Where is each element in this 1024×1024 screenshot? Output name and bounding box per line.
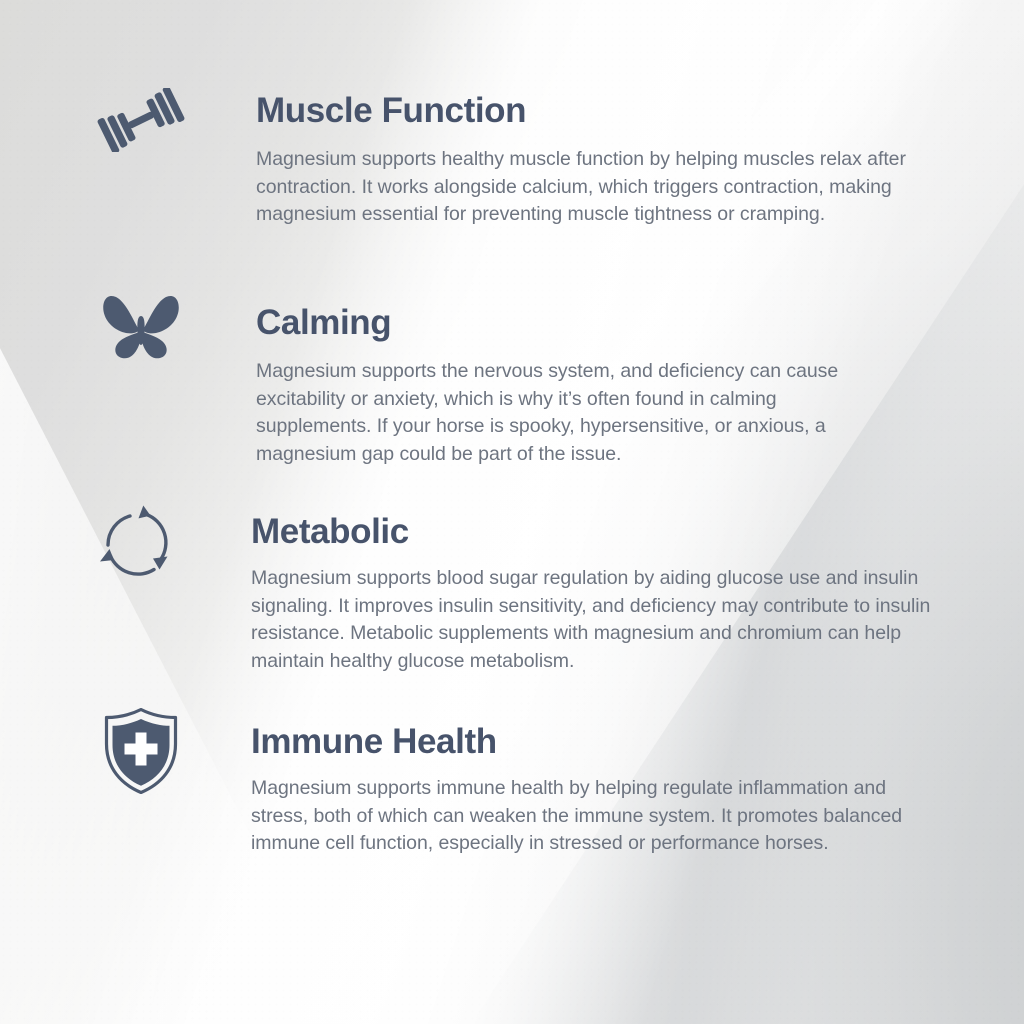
infographic-canvas: Muscle Function Magnesium supports healt… [0,0,1024,1024]
dumbbell-icon [95,88,187,152]
cycle-icon [97,503,177,581]
shield-cross-icon [103,708,179,794]
benefit-text-metabolic: Metabolic Magnesium supports blood sugar… [251,514,931,675]
benefit-heading: Calming [256,305,896,340]
benefit-text-muscle-function: Muscle Function Magnesium supports healt… [256,93,934,229]
benefit-body: Magnesium supports healthy muscle functi… [256,146,934,229]
benefit-text-immune-health: Immune Health Magnesium supports immune … [251,724,917,858]
benefit-text-calming: Calming Magnesium supports the nervous s… [256,305,896,468]
benefit-body: Magnesium supports immune health by help… [251,775,917,858]
benefit-heading: Metabolic [251,514,931,549]
benefit-heading: Immune Health [251,724,917,759]
benefit-heading: Muscle Function [256,93,934,128]
benefit-body: Magnesium supports the nervous system, a… [256,358,896,468]
butterfly-icon [102,294,180,360]
benefit-body: Magnesium supports blood sugar regulatio… [251,565,931,675]
benefits-list: Muscle Function Magnesium supports healt… [0,0,1024,1024]
